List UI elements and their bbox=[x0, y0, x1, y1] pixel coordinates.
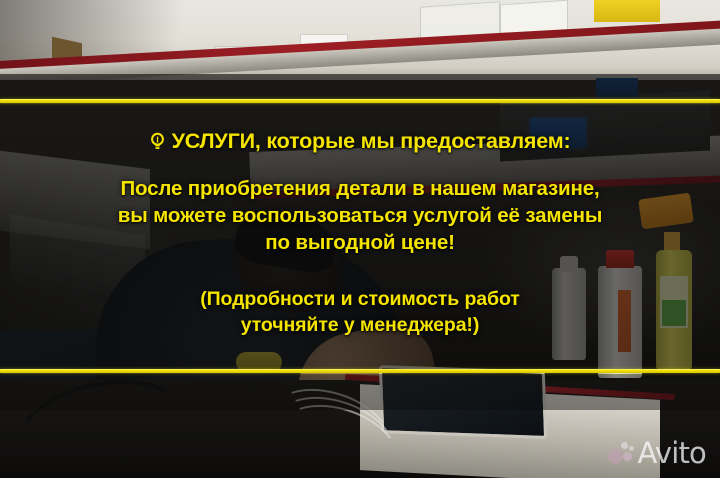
lightbulb-icon bbox=[150, 132, 165, 152]
avito-wordmark: Avito bbox=[638, 439, 706, 468]
avito-logo-dot bbox=[608, 449, 623, 464]
avito-logo-icon bbox=[608, 441, 633, 466]
avito-logo-dot bbox=[621, 442, 628, 449]
services-description-line: по выгодной цене! bbox=[118, 229, 602, 256]
services-description-line: вы можете воспользоваться услугой её зам… bbox=[118, 202, 602, 229]
services-heading-label: УСЛУГИ, которые мы предоставляем: bbox=[172, 131, 571, 153]
services-description-line: После приобретения детали в нашем магази… bbox=[118, 175, 602, 202]
services-note-line: уточняйте у менеджера!) bbox=[200, 312, 519, 338]
services-note: (Подробности и стоимость работ уточняйте… bbox=[200, 286, 519, 338]
services-heading: УСЛУГИ, которые мы предоставляем: bbox=[150, 131, 571, 153]
blue-display-device bbox=[596, 78, 638, 98]
yellow-package bbox=[594, 0, 660, 22]
avito-watermark: Avito bbox=[608, 439, 706, 468]
services-note-line: (Подробности и стоимость работ bbox=[200, 286, 519, 312]
avito-logo-dot bbox=[623, 452, 632, 461]
services-description: После приобретения детали в нашем магази… bbox=[118, 175, 602, 257]
avito-logo-dot bbox=[629, 446, 634, 451]
divider-rule-top bbox=[0, 99, 720, 103]
tablet-device bbox=[379, 365, 547, 439]
advertisement-banner: УСЛУГИ, которые мы предоставляем: После … bbox=[0, 0, 720, 478]
banner-text-block: УСЛУГИ, которые мы предоставляем: После … bbox=[0, 104, 720, 370]
